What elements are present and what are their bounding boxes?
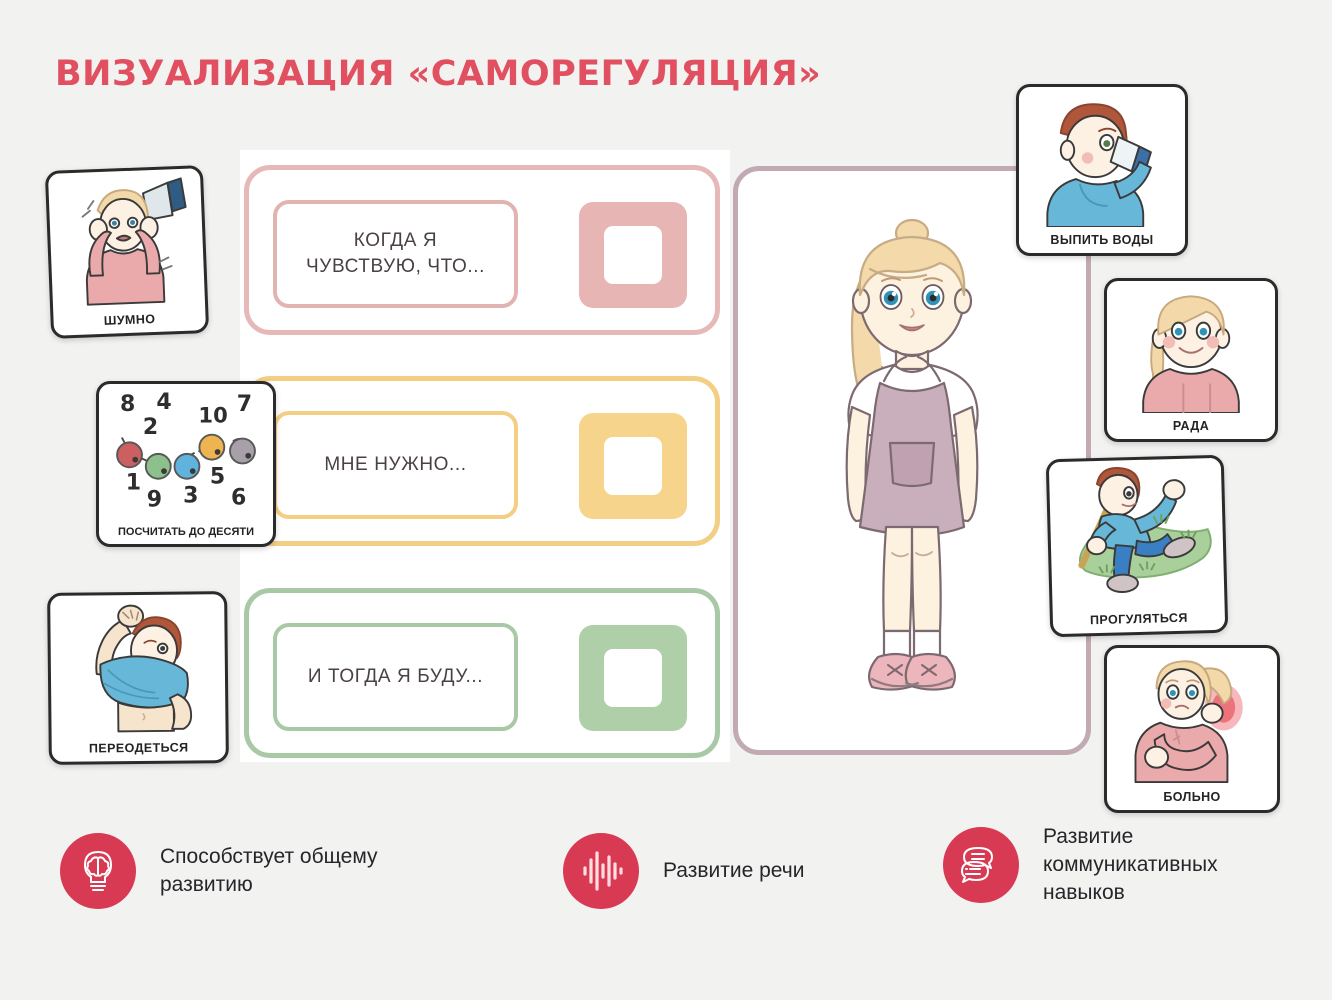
feature-development: Способствует общему развитию	[60, 833, 378, 909]
speech-bubbles-icon	[943, 827, 1019, 903]
boy-walking-outdoors-icon	[1049, 458, 1225, 608]
feature-line1: Способствует общему	[160, 845, 378, 868]
feature-line1: Развитие	[1043, 825, 1133, 848]
card-caption: ШУМНО	[53, 310, 205, 330]
svg-text:5: 5	[210, 465, 225, 490]
feature-speech: Развитие речи	[563, 833, 804, 909]
feature-text: Развитие коммуникативных навыков	[1043, 823, 1218, 907]
sentence-text-box-need: МНЕ НУЖНО...	[273, 411, 518, 519]
svg-text:3: 3	[183, 484, 198, 509]
svg-text:6: 6	[231, 486, 246, 511]
page-title: ВИЗУАЛИЗАЦИЯ «САМОРЕГУЛЯЦИЯ»	[55, 54, 821, 94]
feature-line3: навыков	[1043, 881, 1125, 904]
sentence-strip-need[interactable]: МНЕ НУЖНО...	[244, 376, 720, 546]
card-caption: ПОСЧИТАТЬ ДО ДЕСЯТИ	[99, 526, 273, 538]
strip-feel-line1: КОГДА Я	[354, 230, 437, 251]
sentence-strip-then[interactable]: И ТОГДА Я БУДУ...	[244, 588, 720, 758]
standing-girl-illustration	[762, 193, 1062, 738]
strip-then-line1: И ТОГДА Я БУДУ...	[308, 664, 483, 690]
card-slot-feel[interactable]	[579, 202, 687, 308]
sentence-text-box-then: И ТОГДА Я БУДУ...	[273, 623, 518, 731]
feature-communication: Развитие коммуникативных навыков	[943, 823, 1218, 907]
happy-girl-icon	[1107, 281, 1275, 413]
svg-text:7: 7	[237, 392, 252, 417]
card-slot-hole	[604, 649, 662, 707]
feature-line2: коммуникативных	[1043, 853, 1218, 876]
poster-canvas: ВИЗУАЛИЗАЦИЯ «САМОРЕГУЛЯЦИЯ» КОГДА Я ЧУВ…	[0, 0, 1332, 1000]
card-slot-hole	[604, 226, 662, 284]
svg-text:2: 2	[143, 415, 158, 440]
pecs-card-take-a-walk[interactable]: ПРОГУЛЯТЬСЯ	[1046, 455, 1229, 638]
pecs-card-noise[interactable]: ШУМНО	[45, 165, 209, 339]
boy-drinking-water-icon	[1019, 87, 1185, 227]
feature-text: Развитие речи	[663, 857, 804, 885]
sentence-strip-feel[interactable]: КОГДА Я ЧУВСТВУЮ, ЧТО...	[244, 165, 720, 335]
svg-text:4: 4	[156, 390, 171, 415]
sound-waveform-icon	[563, 833, 639, 909]
pecs-card-drink-water[interactable]: ВЫПИТЬ ВОДЫ	[1016, 84, 1188, 256]
svg-text:9: 9	[147, 488, 162, 513]
card-caption: РАДА	[1107, 419, 1275, 433]
pecs-card-change-clothes[interactable]: ПЕРЕОДЕТЬСЯ	[47, 591, 229, 765]
card-slot-need[interactable]	[579, 413, 687, 519]
strip-need-line1: МНЕ НУЖНО...	[324, 452, 466, 478]
card-slot-hole	[604, 437, 662, 495]
card-caption: БОЛЬНО	[1107, 790, 1277, 804]
card-slot-then[interactable]	[579, 625, 687, 731]
svg-text:8: 8	[120, 392, 135, 417]
strip-feel-line2: ЧУВСТВУЮ, ЧТО...	[306, 256, 485, 277]
pecs-card-glad[interactable]: РАДА	[1104, 278, 1278, 442]
card-caption: ПЕРЕОДЕТЬСЯ	[52, 740, 226, 756]
card-caption: ВЫПИТЬ ВОДЫ	[1019, 233, 1185, 247]
feature-text: Способствует общему развитию	[160, 843, 378, 899]
pecs-card-count-to-ten[interactable]: 8 4 7 10 2 1 9 3 5 6	[96, 381, 276, 547]
brain-lightbulb-icon	[60, 833, 136, 909]
svg-text:1: 1	[126, 470, 141, 495]
feature-line1: Развитие речи	[663, 859, 804, 882]
boy-changing-shirt-icon	[50, 594, 225, 736]
card-caption: ПРОГУЛЯТЬСЯ	[1053, 610, 1225, 628]
sentence-text-box-feel: КОГДА Я ЧУВСТВУЮ, ЧТО...	[273, 200, 518, 308]
pecs-card-pain[interactable]: БОЛЬНО	[1104, 645, 1280, 813]
girl-shoulder-pain-icon	[1107, 648, 1277, 784]
girl-covering-ears-megaphone-icon	[48, 168, 205, 310]
svg-text:10: 10	[198, 402, 227, 427]
feature-line2: развитию	[160, 873, 253, 896]
counting-beads-icon: 8 4 7 10 2 1 9 3 5 6	[99, 384, 273, 518]
